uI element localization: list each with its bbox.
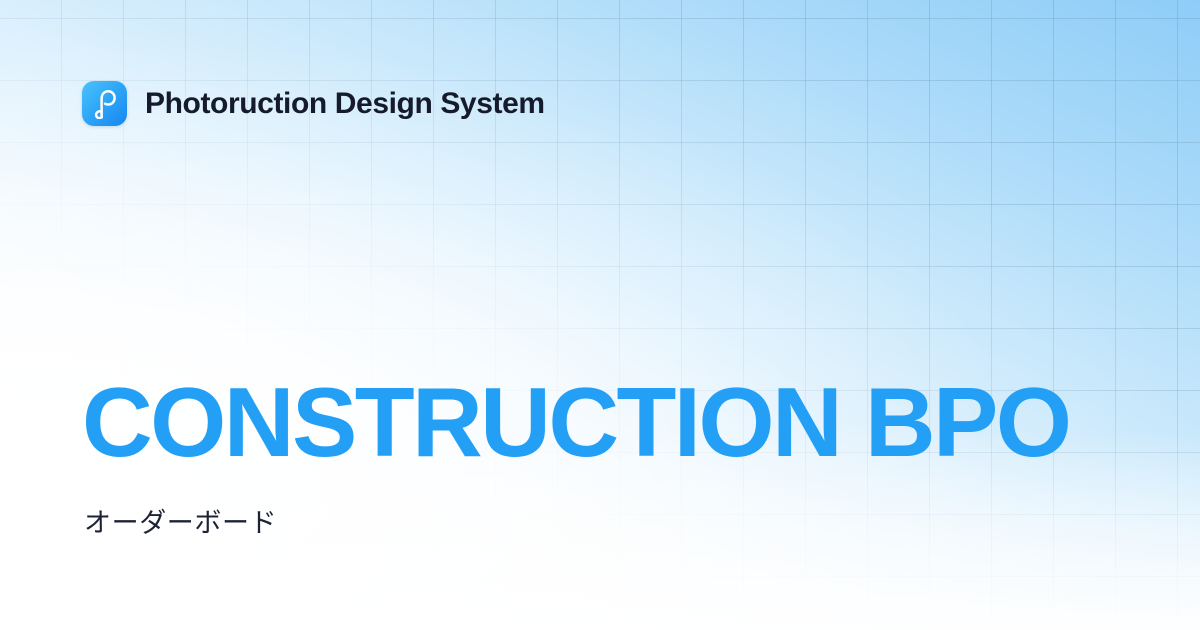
og-card: Photoruction Design System CONSTRUCTION … <box>0 0 1200 630</box>
card-content: Photoruction Design System CONSTRUCTION … <box>0 0 1200 630</box>
photoruction-logo-icon <box>82 81 127 126</box>
brand-lockup: Photoruction Design System <box>82 81 545 126</box>
page-title: CONSTRUCTION BPO <box>82 373 1069 471</box>
page-subtitle: オーダーボード <box>84 506 277 541</box>
brand-name-label: Photoruction Design System <box>145 89 545 119</box>
p-loop-glyph-icon <box>91 89 118 119</box>
